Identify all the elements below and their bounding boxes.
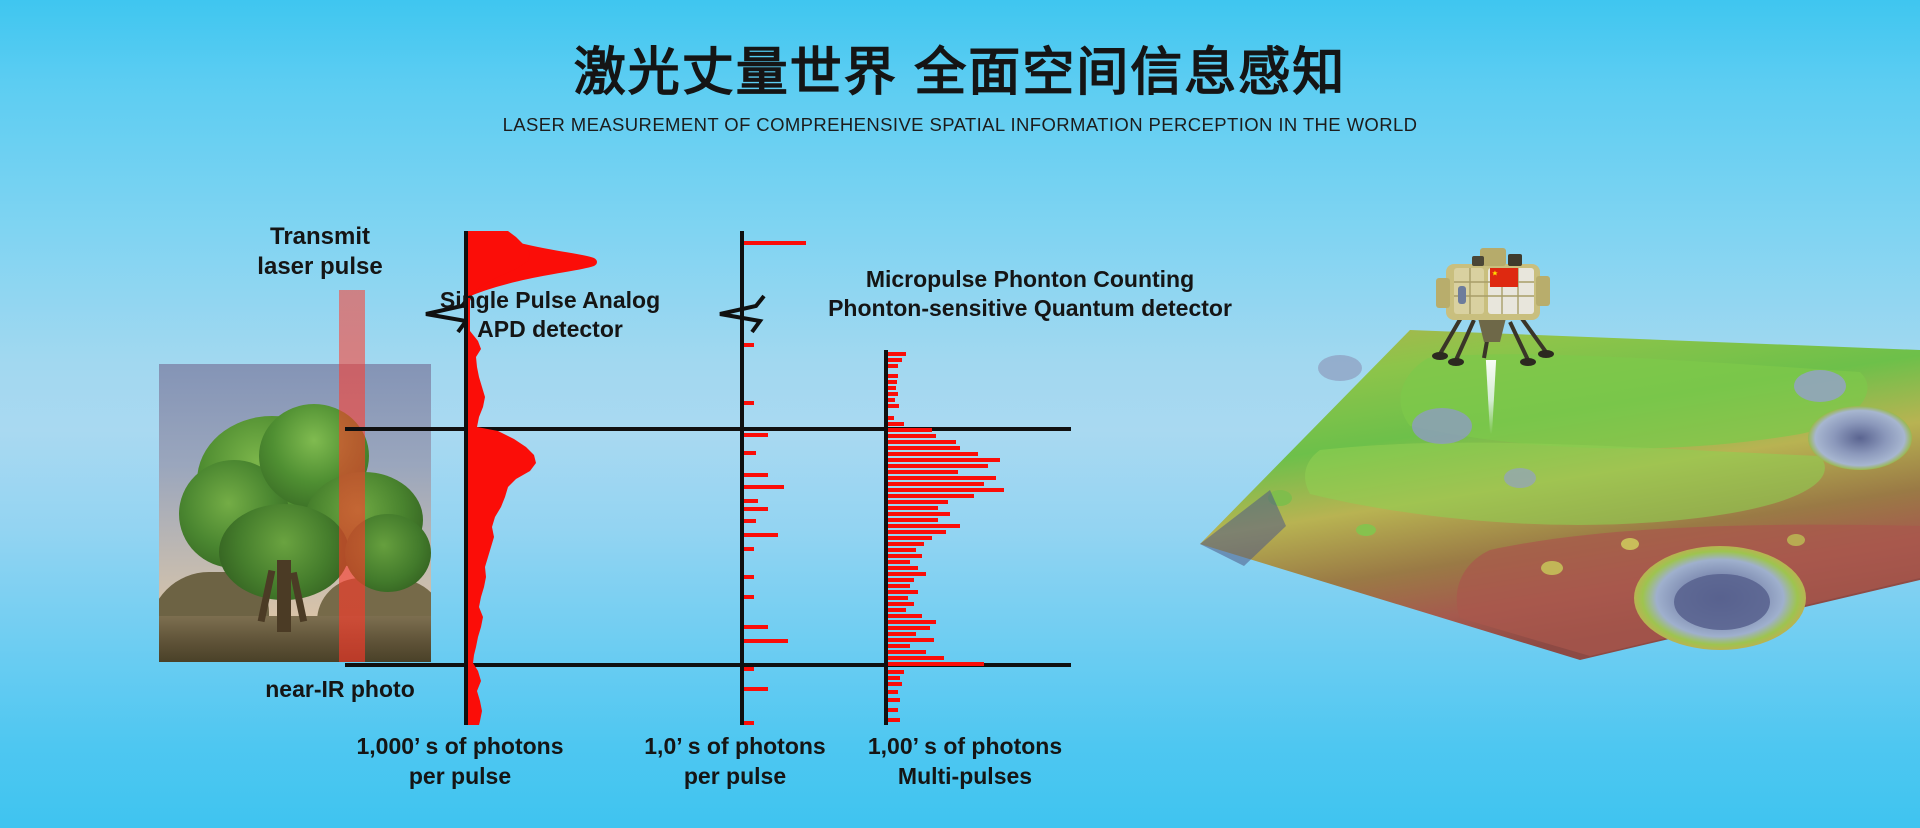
photon-bar <box>744 499 758 503</box>
near-ir-photo-label: near-IR photo <box>210 675 470 704</box>
photon-bar <box>888 670 904 674</box>
photon-bar <box>888 718 900 722</box>
axis-caption-photon-counting: 1,00’ s of photons Multi-pulses <box>840 732 1090 792</box>
photon-bar <box>888 698 900 702</box>
near-ir-tree-photo <box>159 364 431 662</box>
photon-bar <box>888 374 898 378</box>
photon-bar <box>888 644 910 648</box>
photon-bar <box>744 533 778 537</box>
axis-caption-analog: 1,000’ s of photons per pulse <box>330 732 590 792</box>
photon-bar <box>744 721 754 725</box>
photon-bar <box>888 452 978 456</box>
photon-bar <box>744 507 768 511</box>
lunar-lander-icon <box>1428 242 1558 374</box>
photon-bar <box>888 662 984 666</box>
photon-bar <box>744 639 788 643</box>
photon-bar <box>888 614 922 618</box>
photon-bar <box>888 518 938 522</box>
photon-bar <box>888 440 956 444</box>
terrain-elevation-model <box>1160 330 1920 660</box>
photon-bar <box>888 708 898 712</box>
photon-bar <box>888 682 902 686</box>
photon-bar <box>888 620 936 624</box>
photon-bar <box>888 542 924 546</box>
photon-bar <box>888 650 926 654</box>
photo-ground <box>159 616 431 662</box>
poster-root: 激光丈量世界 全面空间信息感知 LASER MEASUREMENT OF COM… <box>0 0 1920 828</box>
photon-bar <box>888 578 914 582</box>
photon-bar <box>744 667 754 671</box>
photon-bar <box>888 554 922 558</box>
transmit-laser-beam <box>339 290 365 662</box>
photon-bar <box>888 608 906 612</box>
photon-bar <box>888 352 906 356</box>
photon-bar <box>888 560 910 564</box>
photon-bar <box>744 519 756 523</box>
photon-bar <box>888 530 946 534</box>
photon-bar <box>888 470 958 474</box>
tree-trunk <box>277 560 291 632</box>
photon-bar <box>888 676 900 680</box>
photon-bar <box>888 428 932 432</box>
photon-bar <box>888 488 1004 492</box>
photon-bar <box>888 626 930 630</box>
lidar-waveform-diagram: Transmit laser pulse Single Pulse Analog… <box>0 0 1160 828</box>
canopy-top-reference-line <box>345 427 1071 431</box>
photon-bar <box>744 451 756 455</box>
photon-bar <box>888 458 1000 462</box>
photon-bar <box>888 404 899 408</box>
photon-bar <box>744 401 754 405</box>
photon-bar <box>888 572 926 576</box>
photon-bar <box>888 422 904 426</box>
photon-bar <box>888 590 918 594</box>
photon-bar <box>888 500 948 504</box>
photon-bar <box>888 584 910 588</box>
photon-bar <box>888 398 895 402</box>
photon-bar <box>888 494 974 498</box>
photon-bar <box>744 433 768 437</box>
lunar-lander-scene <box>1160 180 1920 660</box>
photon-bar <box>744 595 754 599</box>
photon-bar <box>888 566 918 570</box>
photon-bar <box>744 473 768 477</box>
photon-bar <box>888 596 908 600</box>
photon-bar <box>888 386 896 390</box>
photon-bar <box>888 358 902 362</box>
photon-bar <box>744 575 754 579</box>
photon-bar <box>744 687 768 691</box>
photon-bar <box>888 638 934 642</box>
photon-bar <box>888 524 960 528</box>
photon-bar <box>888 380 897 384</box>
apd-detector-label: Single Pulse Analog APD detector <box>380 286 720 344</box>
china-flag-icon <box>1490 268 1518 287</box>
photon-bar <box>888 656 944 660</box>
photon-bar <box>744 625 768 629</box>
axis-caption-sparse: 1,0’ s of photons per pulse <box>615 732 855 792</box>
photon-bar <box>888 476 996 480</box>
transmit-pulse-label: Transmit laser pulse <box>210 222 430 282</box>
photon-bar <box>744 485 784 489</box>
photon-bar <box>888 512 950 516</box>
photon-bar <box>888 602 914 606</box>
photon-bar <box>744 547 754 551</box>
photon-bar <box>888 364 898 368</box>
photon-bar <box>888 446 960 450</box>
photon-bar <box>888 548 916 552</box>
photon-bar <box>888 464 988 468</box>
photon-bar <box>744 241 806 245</box>
photon-bar <box>888 416 894 420</box>
axis-break-sparse-icon <box>716 294 768 334</box>
photon-bar <box>888 482 984 486</box>
photon-bar <box>888 434 936 438</box>
photon-bar <box>888 506 938 510</box>
photon-bar <box>888 536 932 540</box>
photon-bar <box>888 690 898 694</box>
photon-bar <box>888 632 916 636</box>
photon-bar <box>744 343 754 347</box>
photon-bar <box>888 392 898 396</box>
